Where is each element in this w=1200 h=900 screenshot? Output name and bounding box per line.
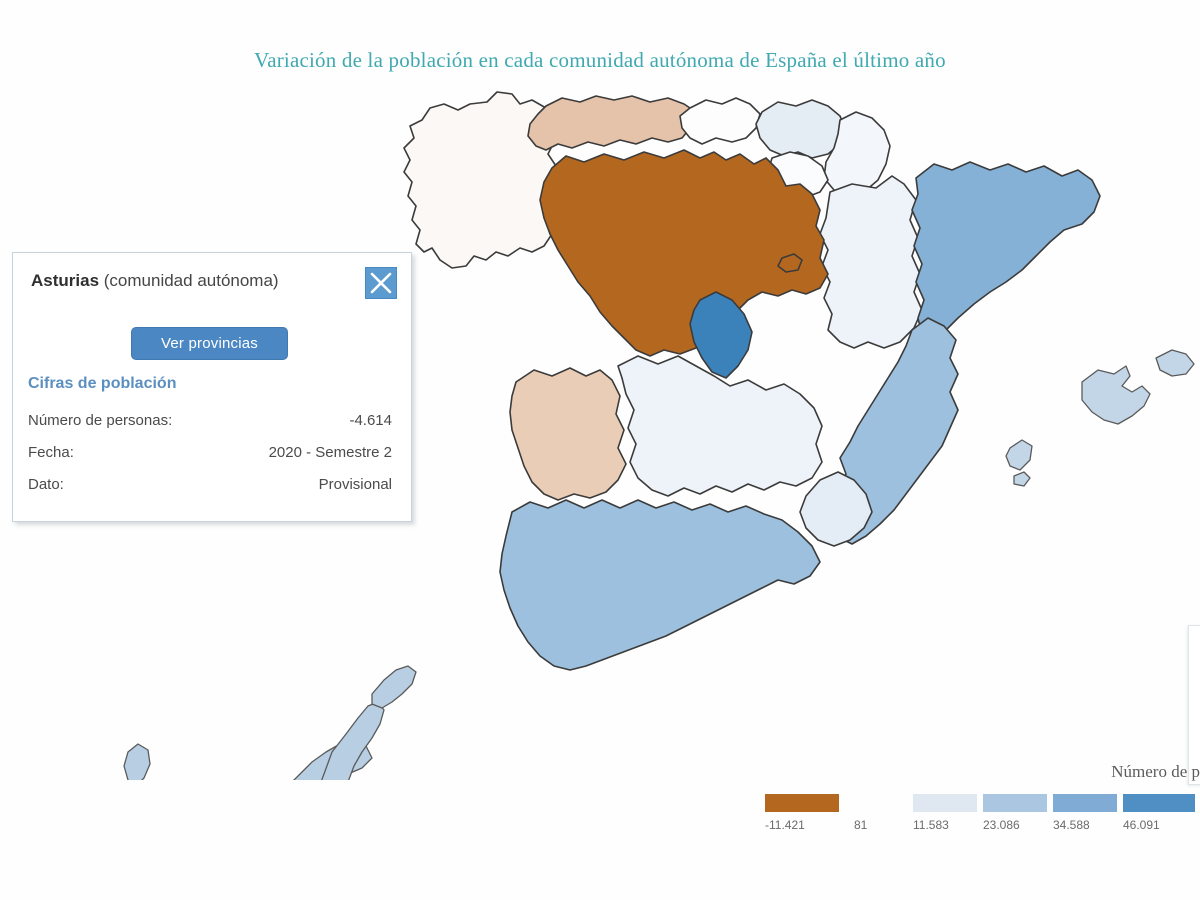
legend-tick-4: 34.588 (1053, 818, 1090, 832)
map-island-mallorca[interactable] (1082, 366, 1150, 424)
cifras-de-poblacion-heading: Cifras de población (28, 375, 176, 393)
panel-title: Asturias (comunidad autónoma) (31, 271, 351, 291)
legend-swatch-negative[interactable] (765, 794, 839, 812)
map-region-aragon[interactable] (820, 176, 922, 348)
map-island-menorca[interactable] (1156, 350, 1194, 376)
right-edge-cut-panel (1188, 625, 1200, 785)
legend-tick-1: 81 (854, 818, 867, 832)
data-label: Fecha: (28, 444, 74, 461)
legend-swatch-3[interactable] (1053, 794, 1117, 812)
legend-swatch-1[interactable] (913, 794, 977, 812)
map-region-castilla-la-mancha[interactable] (618, 356, 822, 496)
legend-tick-5: 46.091 (1123, 818, 1160, 832)
map-legend: Número de p -11.421 81 11.583 23.086 34.… (760, 762, 1200, 848)
map-region-andalucia[interactable] (500, 500, 820, 670)
data-row-fecha: Fecha: 2020 - Semestre 2 (28, 444, 392, 461)
data-value: Provisional (319, 476, 392, 493)
legend-swatch-2[interactable] (983, 794, 1047, 812)
map-island-ibiza[interactable] (1006, 440, 1032, 470)
map-region-cataluna[interactable] (912, 162, 1100, 346)
ver-provincias-button[interactable]: Ver provincias (131, 327, 288, 360)
panel-region-type: (comunidad autónoma) (104, 271, 279, 290)
legend-swatch-4[interactable] (1123, 794, 1195, 812)
close-icon[interactable] (365, 267, 397, 299)
map-island-la-palma[interactable] (124, 744, 150, 780)
data-label: Dato: (28, 476, 64, 493)
map-island-formentera[interactable] (1014, 472, 1030, 486)
map-region-asturias[interactable] (528, 96, 696, 150)
legend-caption: Número de p (1111, 762, 1200, 782)
map-region-cantabria[interactable] (680, 98, 760, 144)
data-value: 2020 - Semestre 2 (269, 444, 392, 461)
panel-region-name: Asturias (31, 271, 99, 290)
data-value: -4.614 (349, 412, 392, 429)
data-label: Número de personas: (28, 412, 172, 429)
data-row-numero-personas: Número de personas: -4.614 (28, 412, 392, 429)
data-row-dato: Dato: Provisional (28, 476, 392, 493)
legend-tick-2: 11.583 (913, 818, 949, 832)
map-island-lanzarote[interactable] (372, 666, 416, 708)
legend-tick-0: -11.421 (765, 818, 805, 832)
legend-tick-3: 23.086 (983, 818, 1020, 832)
map-region-extremadura[interactable] (510, 368, 626, 500)
page-title: Variación de la población en cada comuni… (0, 48, 1200, 73)
map-island-fuerteventura[interactable] (318, 702, 384, 780)
population-map-page: Variación de la población en cada comuni… (0, 0, 1200, 900)
